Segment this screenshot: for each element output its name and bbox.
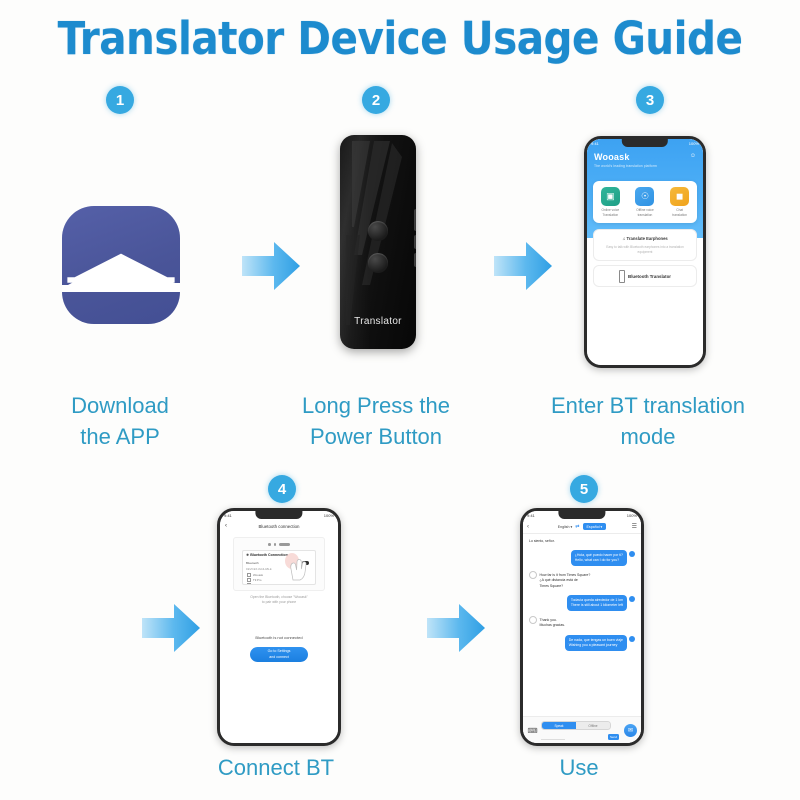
hand-pointer-icon <box>283 552 309 582</box>
avatar <box>529 616 537 624</box>
chat-translation-icon: ◼ <box>670 187 689 206</box>
caption-step-2: Long Press the Power Button <box>268 390 484 452</box>
arrow-step3-to-step4 <box>140 600 202 656</box>
phone-notch <box>558 511 605 519</box>
arrow-step4-to-step5 <box>425 600 487 656</box>
home-screen-content: 9:41 100% Wooask The world's leading tra… <box>587 139 703 365</box>
tile-label: Offline voice translation <box>636 208 653 216</box>
avatar <box>529 571 537 579</box>
tile-online-voice[interactable]: ▣ Online voice Translation <box>595 187 626 216</box>
go-to-settings-button[interactable]: Go to Settings and connect <box>250 647 308 662</box>
microphone-icon[interactable]: ✉ <box>624 724 637 737</box>
step-badge-4: 4 <box>268 475 296 503</box>
phone-notch <box>622 139 668 147</box>
step-badge-5: 5 <box>570 475 598 503</box>
status-battery: 100% <box>627 513 637 518</box>
message-text: De nada, que tengas un buen viaje Wishin… <box>565 635 626 651</box>
bt-settings-panel: ⚛ Bluetooth Connection Bluetooth DEVICES… <box>242 550 316 585</box>
dot <box>268 543 271 546</box>
translate-earphones-card[interactable]: ♫ Translate Earphones Easy to talk with … <box>593 229 697 261</box>
bluetooth-button-label: Bluetooth Translator <box>628 274 671 279</box>
language-to-label: Español <box>587 525 600 529</box>
phone-notch <box>255 511 302 519</box>
chat-message: ¿Hola, qué puedo hacer por ti? Hello, wh… <box>529 550 635 566</box>
illustration-dots <box>234 543 324 546</box>
step-badge-1: 1 <box>106 86 134 114</box>
bt-device-item[interactable]: Wooask <box>247 573 263 577</box>
page-title: Translator Device Usage Guide <box>0 12 800 65</box>
chat-message-list[interactable]: Lo siento, señor. ¿Hola, qué puedo hacer… <box>523 533 641 717</box>
chat-message: Thank you. Muchas gracias. <box>529 615 635 631</box>
phone-chat-screen[interactable]: 9:41 100% ‹ English ▾ ⇄ Español ▾ ☰ Lo s… <box>520 508 644 746</box>
language-to-selector[interactable]: Español ▾ <box>583 523 607 530</box>
avatar <box>629 636 635 642</box>
text-input-line[interactable] <box>541 733 565 740</box>
bt-illustration: ⚛ Bluetooth Connection Bluetooth DEVICES… <box>233 537 325 591</box>
keyboard-icon[interactable]: ⌨ <box>527 725 538 736</box>
wooask-app-icon[interactable] <box>62 206 180 324</box>
caption-step-4: Connect BT <box>176 752 376 783</box>
device-side-button-1[interactable] <box>414 209 416 231</box>
message-text: How far is it from Times Square? ¿A qué … <box>540 570 594 591</box>
chat-message: How far is it from Times Square? ¿A qué … <box>529 570 635 591</box>
step-badge-2: 2 <box>362 86 390 114</box>
chat-message: Lo siento, señor. <box>529 536 635 546</box>
message-text: Todavía queda alrededor de 1 km There is… <box>567 595 626 611</box>
infographic-page: Translator Device Usage Guide 1 2 3 4 5 <box>0 0 800 800</box>
chat-screen-content: 9:41 100% ‹ English ▾ ⇄ Español ▾ ☰ Lo s… <box>523 511 641 743</box>
back-arrow-icon[interactable]: ‹ <box>527 524 529 530</box>
tab-speak[interactable]: Speak <box>542 722 576 729</box>
online-voice-icon: ▣ <box>601 187 620 206</box>
bluetooth-translator-button[interactable]: Bluetooth Translator <box>593 265 697 287</box>
avatar <box>629 551 635 557</box>
bt-screen-content: 9:41 100% ‹ Bluetooth connection ⚛ Bluet… <box>220 511 338 743</box>
chat-message: De nada, que tengas un buen viaje Wishin… <box>529 635 635 651</box>
bt-nav-bar: ‹ Bluetooth connection <box>220 520 338 532</box>
message-text: ¿Hola, qué puedo hacer por ti? Hello, wh… <box>571 550 626 566</box>
arrow-step2-to-step3 <box>492 238 554 294</box>
caption-step-3: Enter BT translation mode <box>518 390 778 452</box>
message-text: Lo siento, señor. <box>529 536 558 546</box>
device-side-button-2[interactable] <box>414 235 416 249</box>
bt-nav-title: Bluetooth connection <box>220 524 338 529</box>
caption-step-5: Use <box>499 752 659 783</box>
caption-step-1: Download the APP <box>20 390 220 452</box>
person-icon[interactable]: ☺ <box>690 153 696 159</box>
bt-device-item[interactable]: JBL <box>247 583 258 585</box>
earphones-card-title: ♫ Translate Earphones <box>594 236 696 241</box>
tile-chat-translation[interactable]: ◼ Chat translation <box>664 187 695 216</box>
input-mode-tabs[interactable]: Speak Offline <box>541 721 611 730</box>
feature-tiles-card: ▣ Online voice Translation ☉ Offline voi… <box>593 181 697 223</box>
status-battery: 100% <box>324 513 334 518</box>
earphones-card-desc: Easy to talk with Bluetooth earphones in… <box>601 245 689 254</box>
avatar <box>629 596 635 602</box>
status-battery: 100% <box>689 141 699 146</box>
bt-status-text: Bluetooth is not connected <box>220 635 338 640</box>
phone-bluetooth-screen[interactable]: 9:41 100% ‹ Bluetooth connection ⚛ Bluet… <box>217 508 341 746</box>
menu-icon[interactable]: ☰ <box>632 523 637 530</box>
device-button-lower[interactable] <box>368 253 388 273</box>
bt-instruction-text: Open the Bluetooth, choose "Wooask" to p… <box>228 595 330 605</box>
translator-device[interactable]: Translator <box>340 135 416 349</box>
bt-device-item[interactable]: T9 Pro <box>247 578 261 582</box>
earphones-title-text: Translate Earphones <box>627 236 668 241</box>
tile-label: Online voice Translation <box>602 208 620 216</box>
offline-voice-icon: ☉ <box>635 187 654 206</box>
mountain-chevron-highlight <box>62 250 180 290</box>
status-time: 9:41 <box>224 513 232 518</box>
panel-title: ⚛ Bluetooth Connection <box>246 553 288 557</box>
tab-offline[interactable]: Offline <box>576 722 610 729</box>
chat-message: Todavía queda alrededor de 1 km There is… <box>529 595 635 611</box>
message-text: Thank you. Muchas gracias. <box>540 615 569 631</box>
device-button-upper[interactable] <box>368 221 388 241</box>
language-from-label: English <box>558 525 570 529</box>
chat-nav-bar: ‹ English ▾ ⇄ Español ▾ ☰ <box>523 520 641 534</box>
chevron-down-icon: ▾ <box>601 525 603 529</box>
dot <box>274 543 277 546</box>
status-time: 9:41 <box>527 513 535 518</box>
bluetooth-icon: ⚛ <box>246 553 249 557</box>
device-label: Translator <box>340 316 416 327</box>
phone-home-screen[interactable]: 9:41 100% Wooask The world's leading tra… <box>584 136 706 368</box>
device-side-button-3[interactable] <box>414 253 416 267</box>
panel-row-label: Bluetooth <box>246 561 259 565</box>
chevron-down-icon: ▾ <box>570 525 572 529</box>
app-brand-name: Wooask <box>594 152 630 162</box>
language-from-selector[interactable]: English ▾ <box>558 525 573 529</box>
dot-wide <box>279 543 290 546</box>
swap-languages-icon[interactable]: ⇄ <box>575 524 579 530</box>
status-time: 9:41 <box>591 141 599 146</box>
bluetooth-device-icon <box>619 270 625 283</box>
tile-label: Chat translation <box>672 208 687 216</box>
app-tagline: The world's leading translation platform <box>594 164 693 168</box>
send-button[interactable]: Send <box>608 734 619 740</box>
chat-footer: ⌨ Speak Offline Send ✉ <box>523 716 641 743</box>
step-badge-3: 3 <box>636 86 664 114</box>
tile-offline-voice[interactable]: ☉ Offline voice translation <box>629 187 660 216</box>
earphones-icon: ♫ <box>622 236 625 241</box>
arrow-step1-to-step2 <box>240 238 302 294</box>
